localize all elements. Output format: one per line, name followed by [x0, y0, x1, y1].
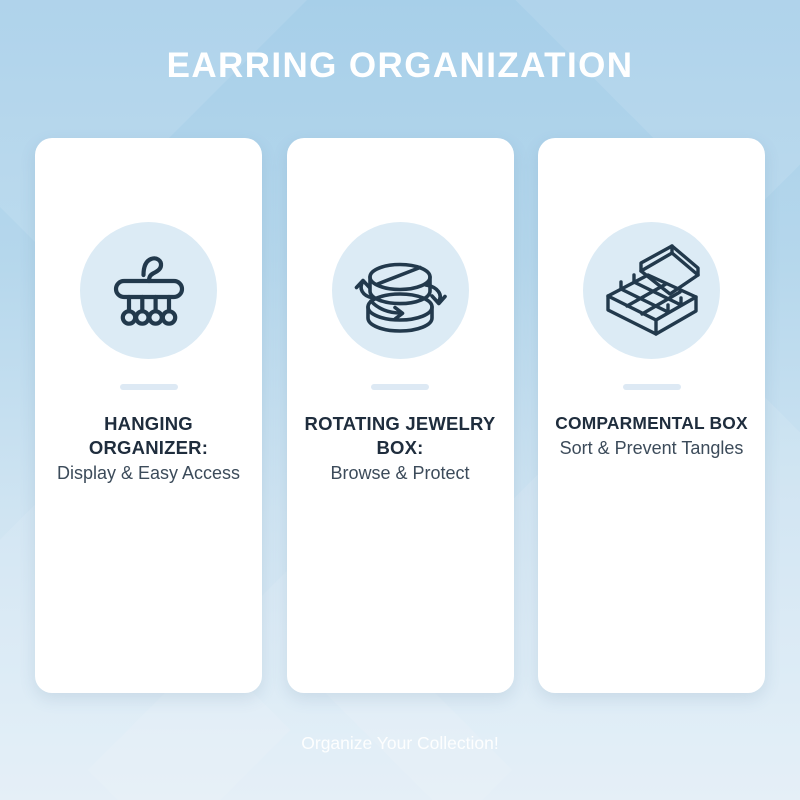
card-divider [371, 384, 429, 390]
hanger-earring-organizer-icon [99, 241, 199, 341]
icon-circle [80, 222, 217, 359]
card-rotating-jewelry-box[interactable]: ROTATING JEWELRY BOX: Browse & Protect [287, 138, 514, 693]
card-subtitle: Sort & Prevent Tangles [549, 436, 754, 460]
footer-tagline: Organize Your Collection! [0, 733, 800, 754]
card-text: ROTATING JEWELRY BOX: Browse & Protect [298, 412, 503, 486]
card-hanging-organizer[interactable]: HANGING ORGANIZER: Display & Easy Access [35, 138, 262, 693]
card-compartmental-box[interactable]: COMPARMENTAL BOX Sort & Prevent Tangles [538, 138, 765, 693]
card-heading: COMPARMENTAL BOX [549, 412, 754, 434]
infographic-canvas: EARRING ORGANIZATION [0, 0, 800, 800]
rotating-jewelry-box-icon [348, 239, 452, 343]
card-row: HANGING ORGANIZER: Display & Easy Access [35, 138, 765, 693]
card-heading: ROTATING JEWELRY BOX: [298, 412, 503, 459]
card-text: COMPARMENTAL BOX Sort & Prevent Tangles [549, 412, 754, 461]
card-text: HANGING ORGANIZER: Display & Easy Access [46, 412, 251, 486]
card-heading: HANGING ORGANIZER: [46, 412, 251, 459]
icon-circle [332, 222, 469, 359]
card-subtitle: Browse & Protect [298, 461, 503, 485]
icon-circle [583, 222, 720, 359]
card-divider [120, 384, 178, 390]
card-subtitle: Display & Easy Access [46, 461, 251, 485]
card-divider [623, 384, 681, 390]
compartmental-box-icon [600, 241, 704, 341]
page-title: EARRING ORGANIZATION [0, 46, 800, 86]
